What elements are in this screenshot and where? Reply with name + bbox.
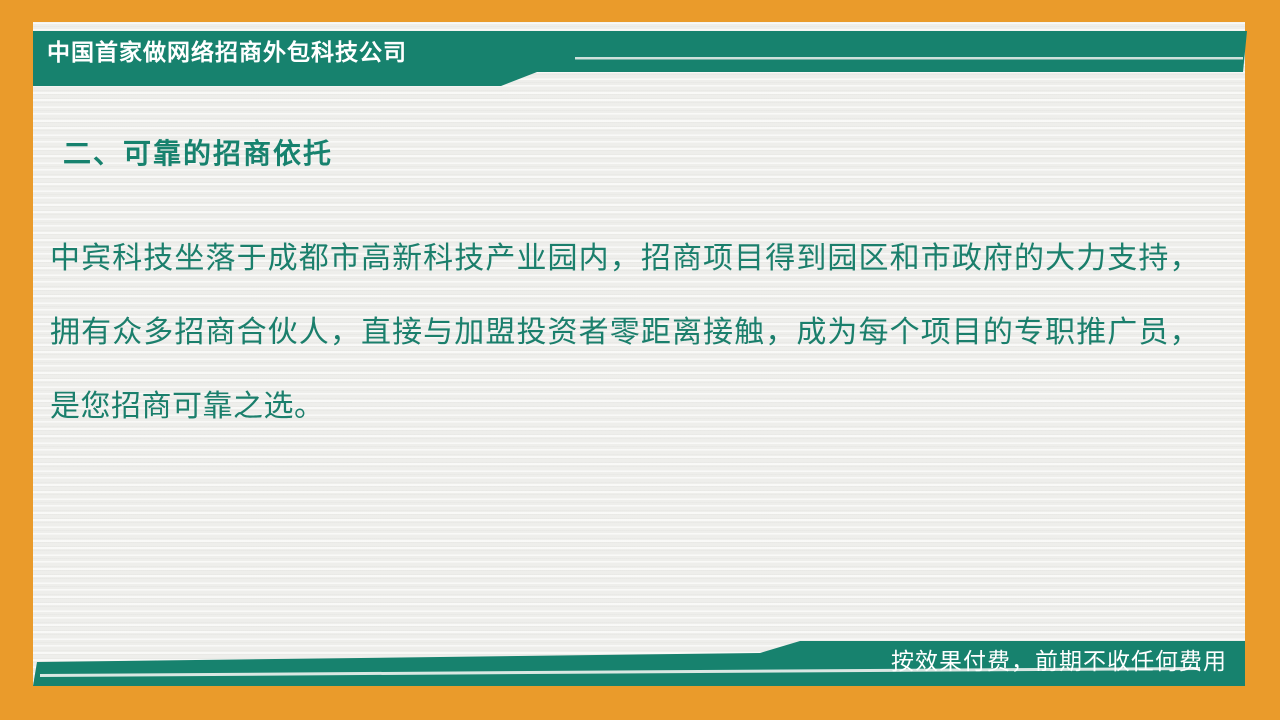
main-content: 二、可靠的招商依托 中宾科技坐落于成都市高新科技产业园内，招商项目得到园区和市政… (33, 100, 1245, 630)
slide-root: 中国首家做网络招商外包科技公司 二、可靠的招商依托 中宾科技坐落于成都市高新科技… (0, 0, 1280, 720)
body-paragraph: 中宾科技坐落于成都市高新科技产业园内，招商项目得到园区和市政府的大力支持，拥有众… (50, 222, 1200, 444)
section-heading: 二、可靠的招商依托 (63, 132, 333, 172)
